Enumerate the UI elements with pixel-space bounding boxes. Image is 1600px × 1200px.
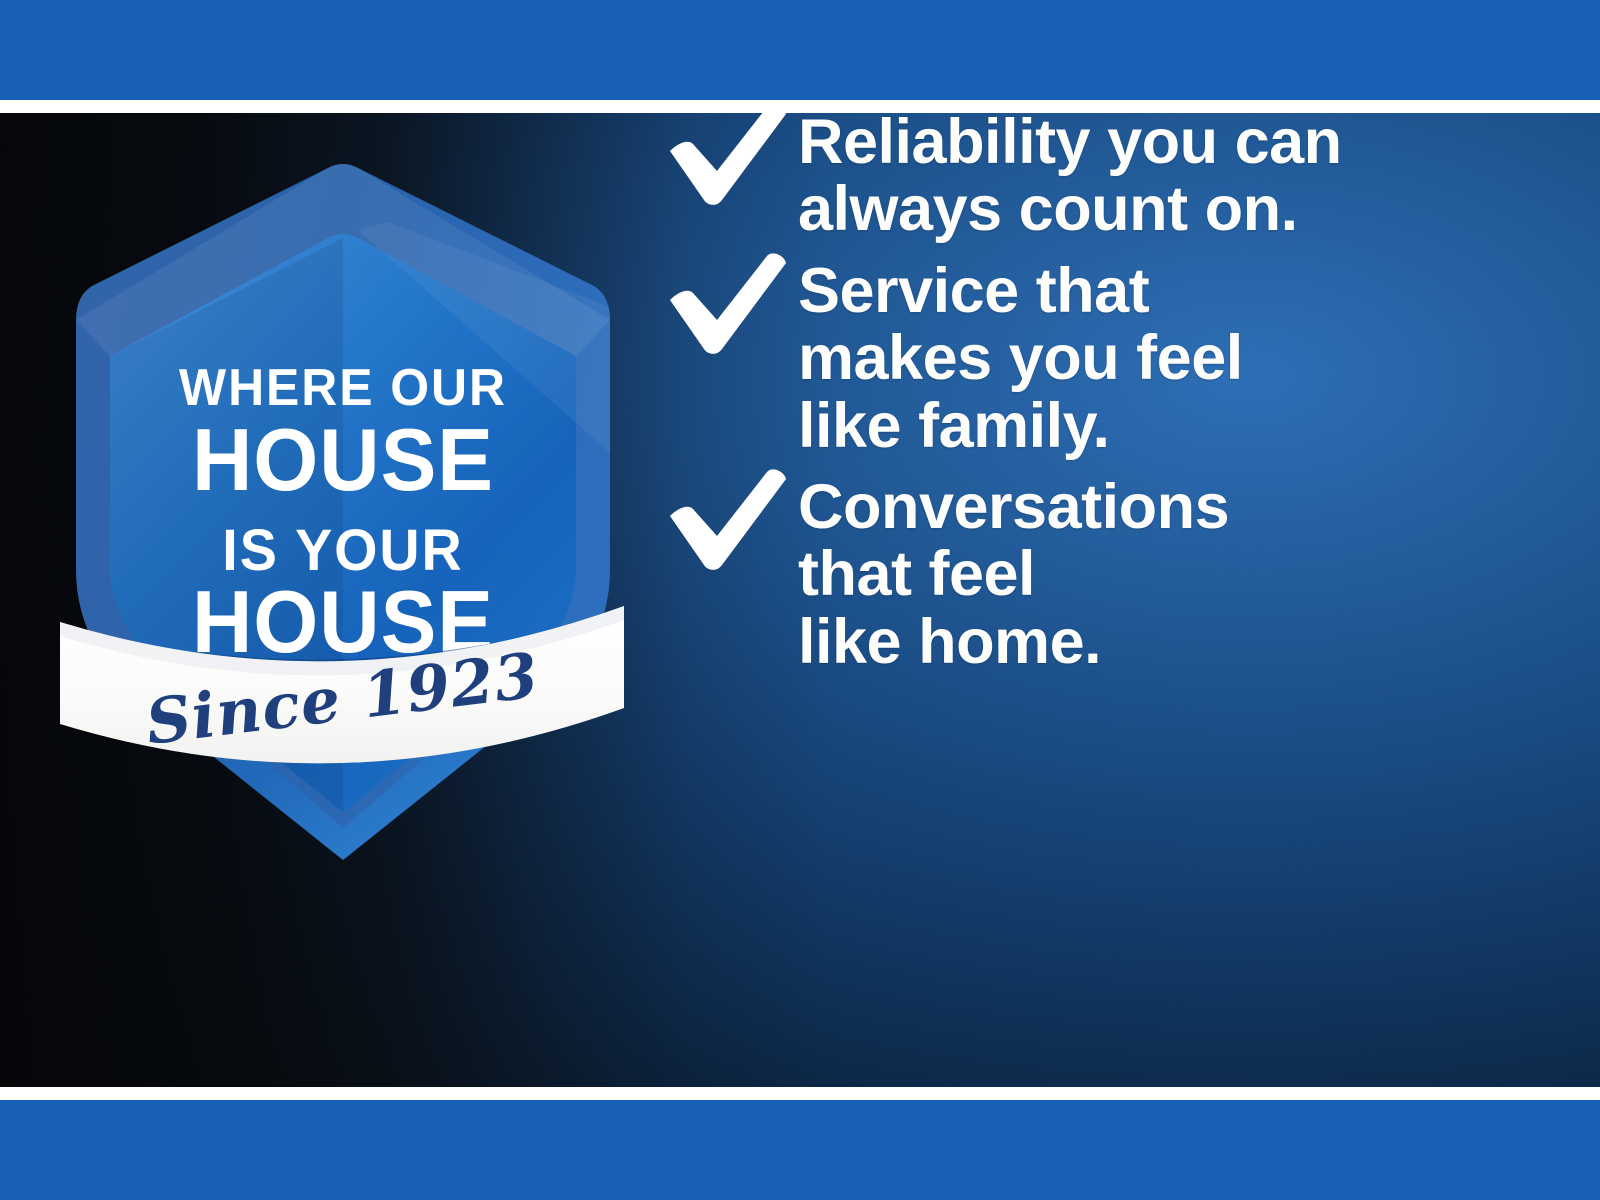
benefit-item: Reliability you can always count on. xyxy=(660,95,1560,244)
shield-line-1: WHERE OUR xyxy=(179,358,507,416)
benefit-item: Conversations that feel like home. xyxy=(660,460,1560,676)
benefit-text: Reliability you can always count on. xyxy=(798,109,1342,244)
benefit-item: Service that makes you feel like family. xyxy=(660,244,1560,460)
checkmark-icon xyxy=(660,95,790,213)
bottom-brand-bar xyxy=(0,1100,1600,1200)
bottom-white-divider xyxy=(0,1087,1600,1100)
benefit-text: Service that makes you feel like family. xyxy=(798,258,1243,460)
promo-graphic: WHERE OUR HOUSE IS YOUR HOUSE Since 1923… xyxy=(0,0,1600,1200)
top-brand-bar xyxy=(0,0,1600,100)
company-shield-logo: WHERE OUR HOUSE IS YOUR HOUSE Since 1923 xyxy=(58,160,628,860)
benefits-list: Reliability you can always count on. Ser… xyxy=(660,95,1560,676)
shield-line-2: HOUSE xyxy=(192,411,494,509)
checkmark-icon xyxy=(660,244,790,362)
benefit-text: Conversations that feel like home. xyxy=(798,474,1229,676)
checkmark-icon xyxy=(660,460,790,578)
